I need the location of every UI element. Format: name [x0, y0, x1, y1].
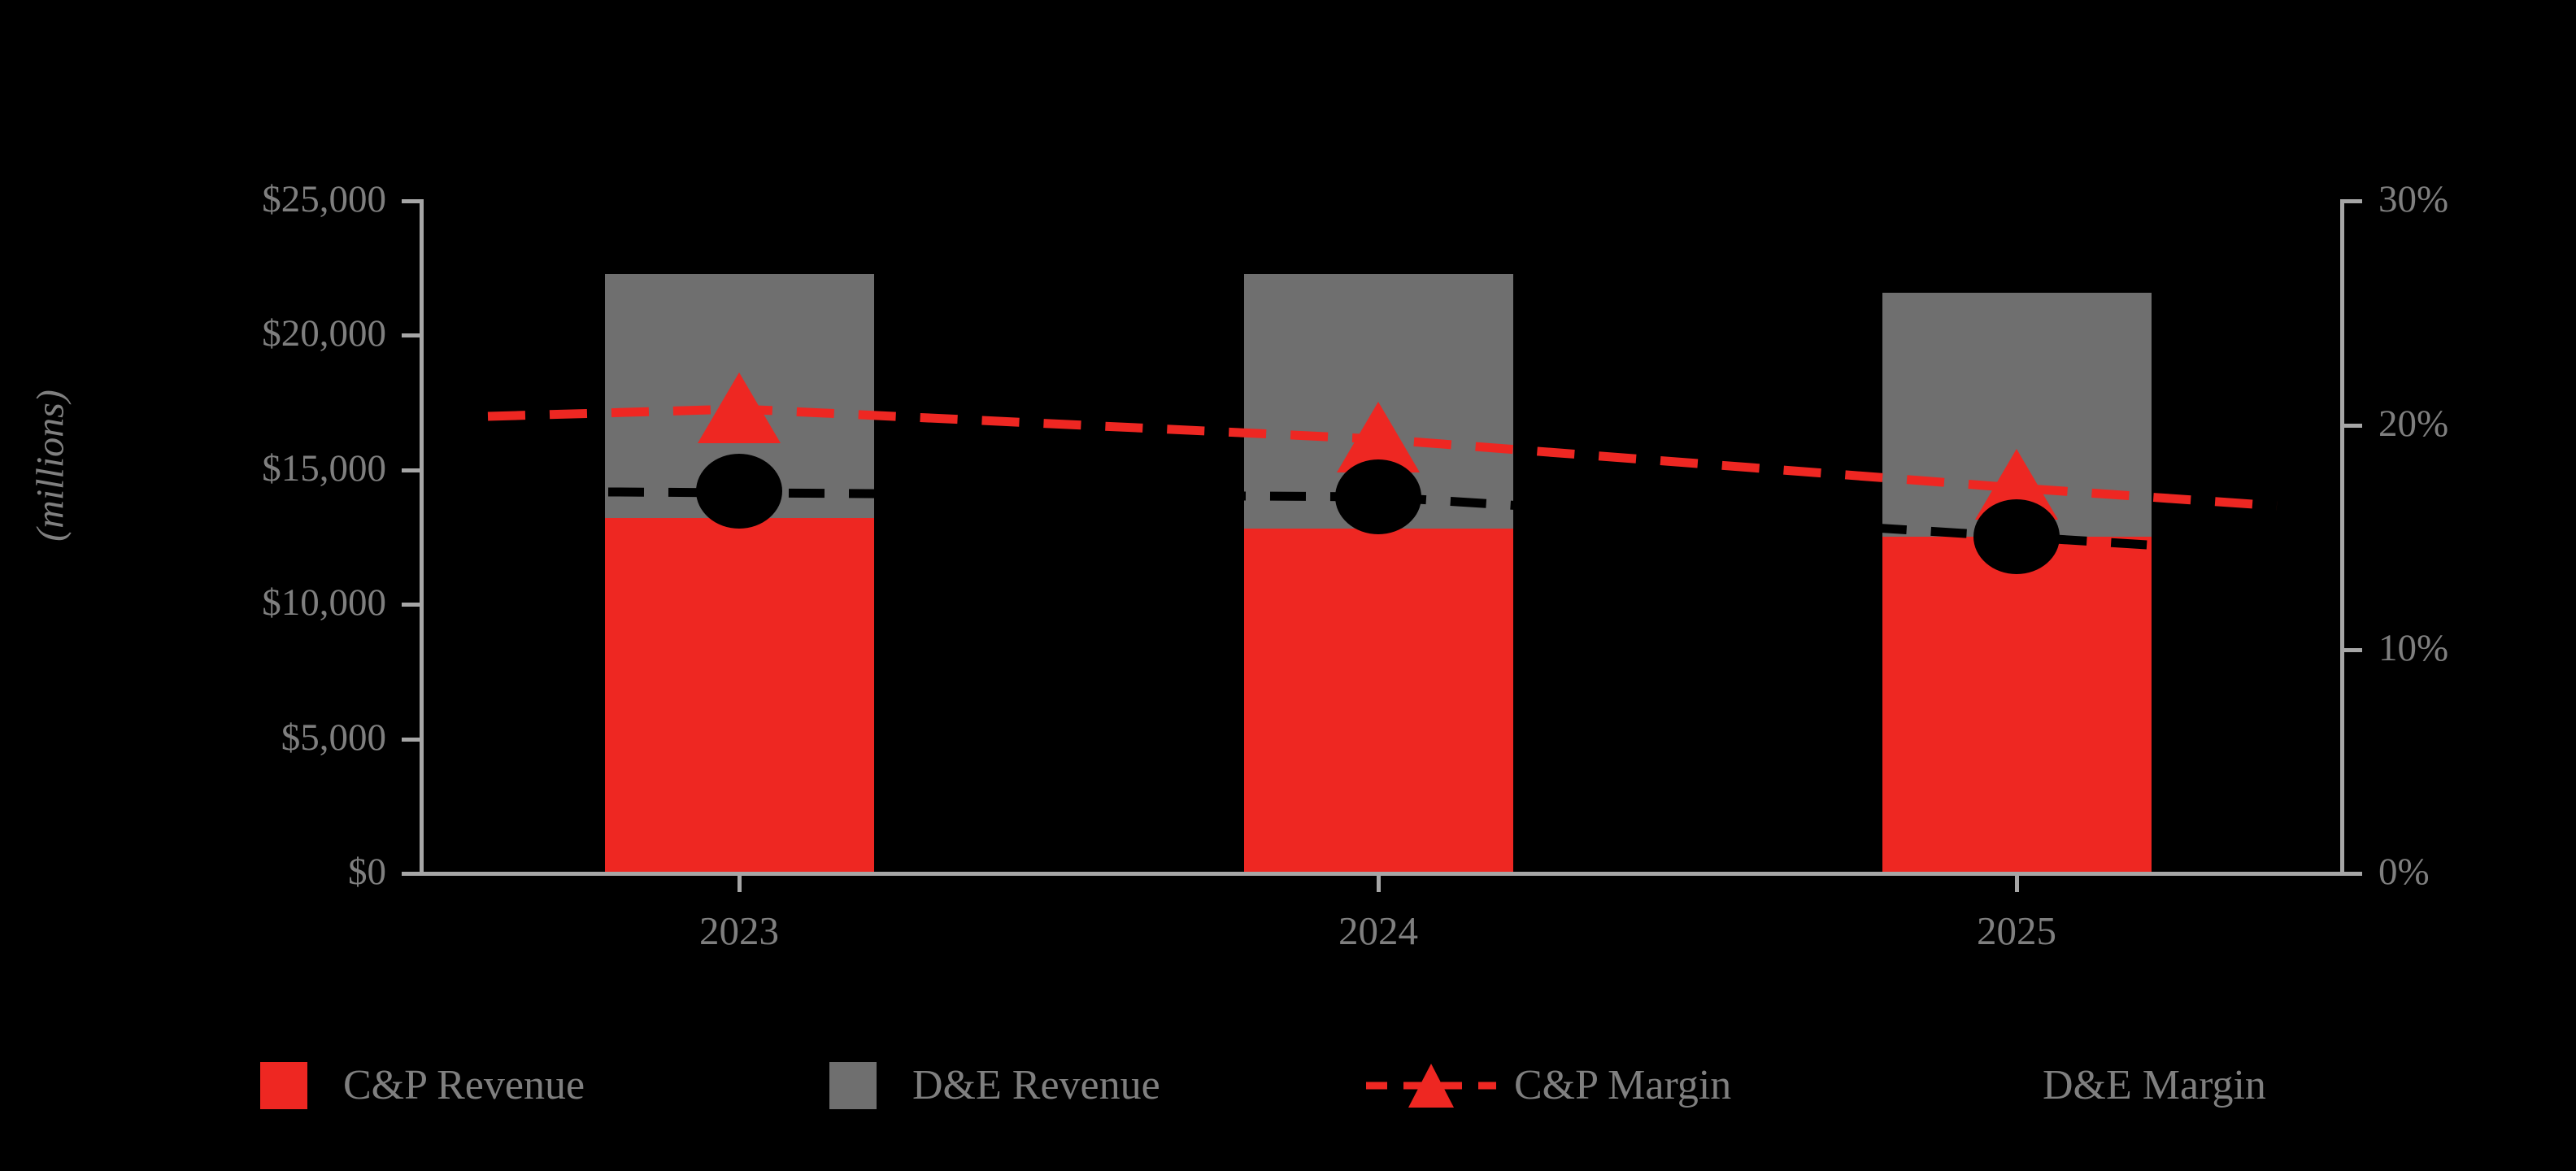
y-tick-label-5000: $5,000 [98, 719, 386, 757]
bar-cp-revenue-2023 [605, 518, 874, 872]
y2-tick-label-20: 20% [2378, 405, 2565, 443]
y-axis-title: (millions) [28, 320, 73, 612]
legend-marker-cp-margin-icon [1366, 1062, 1496, 1109]
x-tick-label-2023: 2023 [577, 911, 902, 951]
y2-tick-mark-10 [2344, 648, 2362, 652]
y2-tick-mark-30 [2344, 199, 2362, 203]
chart-canvas: $25,000 $20,000 $15,000 $10,000 $5,000 $… [0, 0, 2576, 1171]
x-tick-mark-2023 [738, 876, 742, 892]
bar-de-revenue-2025 [1882, 293, 2152, 537]
y-tick-label-20000: $20,000 [98, 315, 386, 353]
y2-tick-label-30: 30% [2378, 181, 2565, 219]
y-tick-mark-25000 [402, 199, 420, 203]
legend-item-de-revenue[interactable]: D&E Revenue [829, 1049, 1160, 1122]
y-tick-mark-0 [402, 872, 420, 876]
y-tick-mark-5000 [402, 738, 420, 742]
x-tick-label-2024: 2024 [1216, 911, 1541, 951]
legend-item-cp-margin[interactable]: C&P Margin [1366, 1049, 1731, 1122]
y-tick-label-10000: $10,000 [98, 584, 386, 622]
bar-cp-revenue-2025 [1882, 537, 2152, 872]
legend-marker-de-margin-icon [1895, 1062, 2025, 1109]
x-tick-mark-2025 [2015, 876, 2019, 892]
y2-tick-mark-20 [2344, 424, 2362, 428]
y-tick-mark-20000 [402, 333, 420, 337]
y-axis-left-line [420, 199, 424, 875]
y2-tick-label-10: 10% [2378, 629, 2565, 668]
x-axis-line [420, 872, 2344, 876]
legend-label-de-margin: D&E Margin [2043, 1064, 2266, 1107]
legend-swatch-de-revenue-icon [829, 1062, 877, 1109]
y-tick-mark-15000 [402, 468, 420, 472]
y-tick-mark-10000 [402, 603, 420, 607]
bar-de-revenue-2024 [1244, 274, 1513, 529]
x-tick-label-2025: 2025 [1854, 911, 2179, 951]
legend-label-de-revenue: D&E Revenue [912, 1064, 1160, 1107]
legend-label-cp-revenue: C&P Revenue [343, 1064, 585, 1107]
bar-de-revenue-2023 [605, 274, 874, 518]
legend-item-cp-revenue[interactable]: C&P Revenue [260, 1049, 585, 1122]
y-tick-label-0: $0 [98, 853, 386, 891]
bar-cp-revenue-2024 [1244, 529, 1513, 872]
y2-tick-mark-0 [2344, 872, 2362, 876]
legend-item-de-margin[interactable]: D&E Margin [1895, 1049, 2266, 1122]
y-tick-label-15000: $15,000 [98, 450, 386, 488]
chart-legend: C&P Revenue D&E Revenue C&P Margin [0, 1049, 2576, 1130]
legend-label-cp-margin: C&P Margin [1514, 1064, 1731, 1107]
legend-swatch-cp-revenue-icon [260, 1062, 307, 1109]
y-axis-right-line [2340, 199, 2344, 875]
y2-tick-label-0: 0% [2378, 853, 2565, 891]
y-tick-label-25000: $25,000 [98, 181, 386, 219]
x-tick-mark-2024 [1377, 876, 1381, 892]
